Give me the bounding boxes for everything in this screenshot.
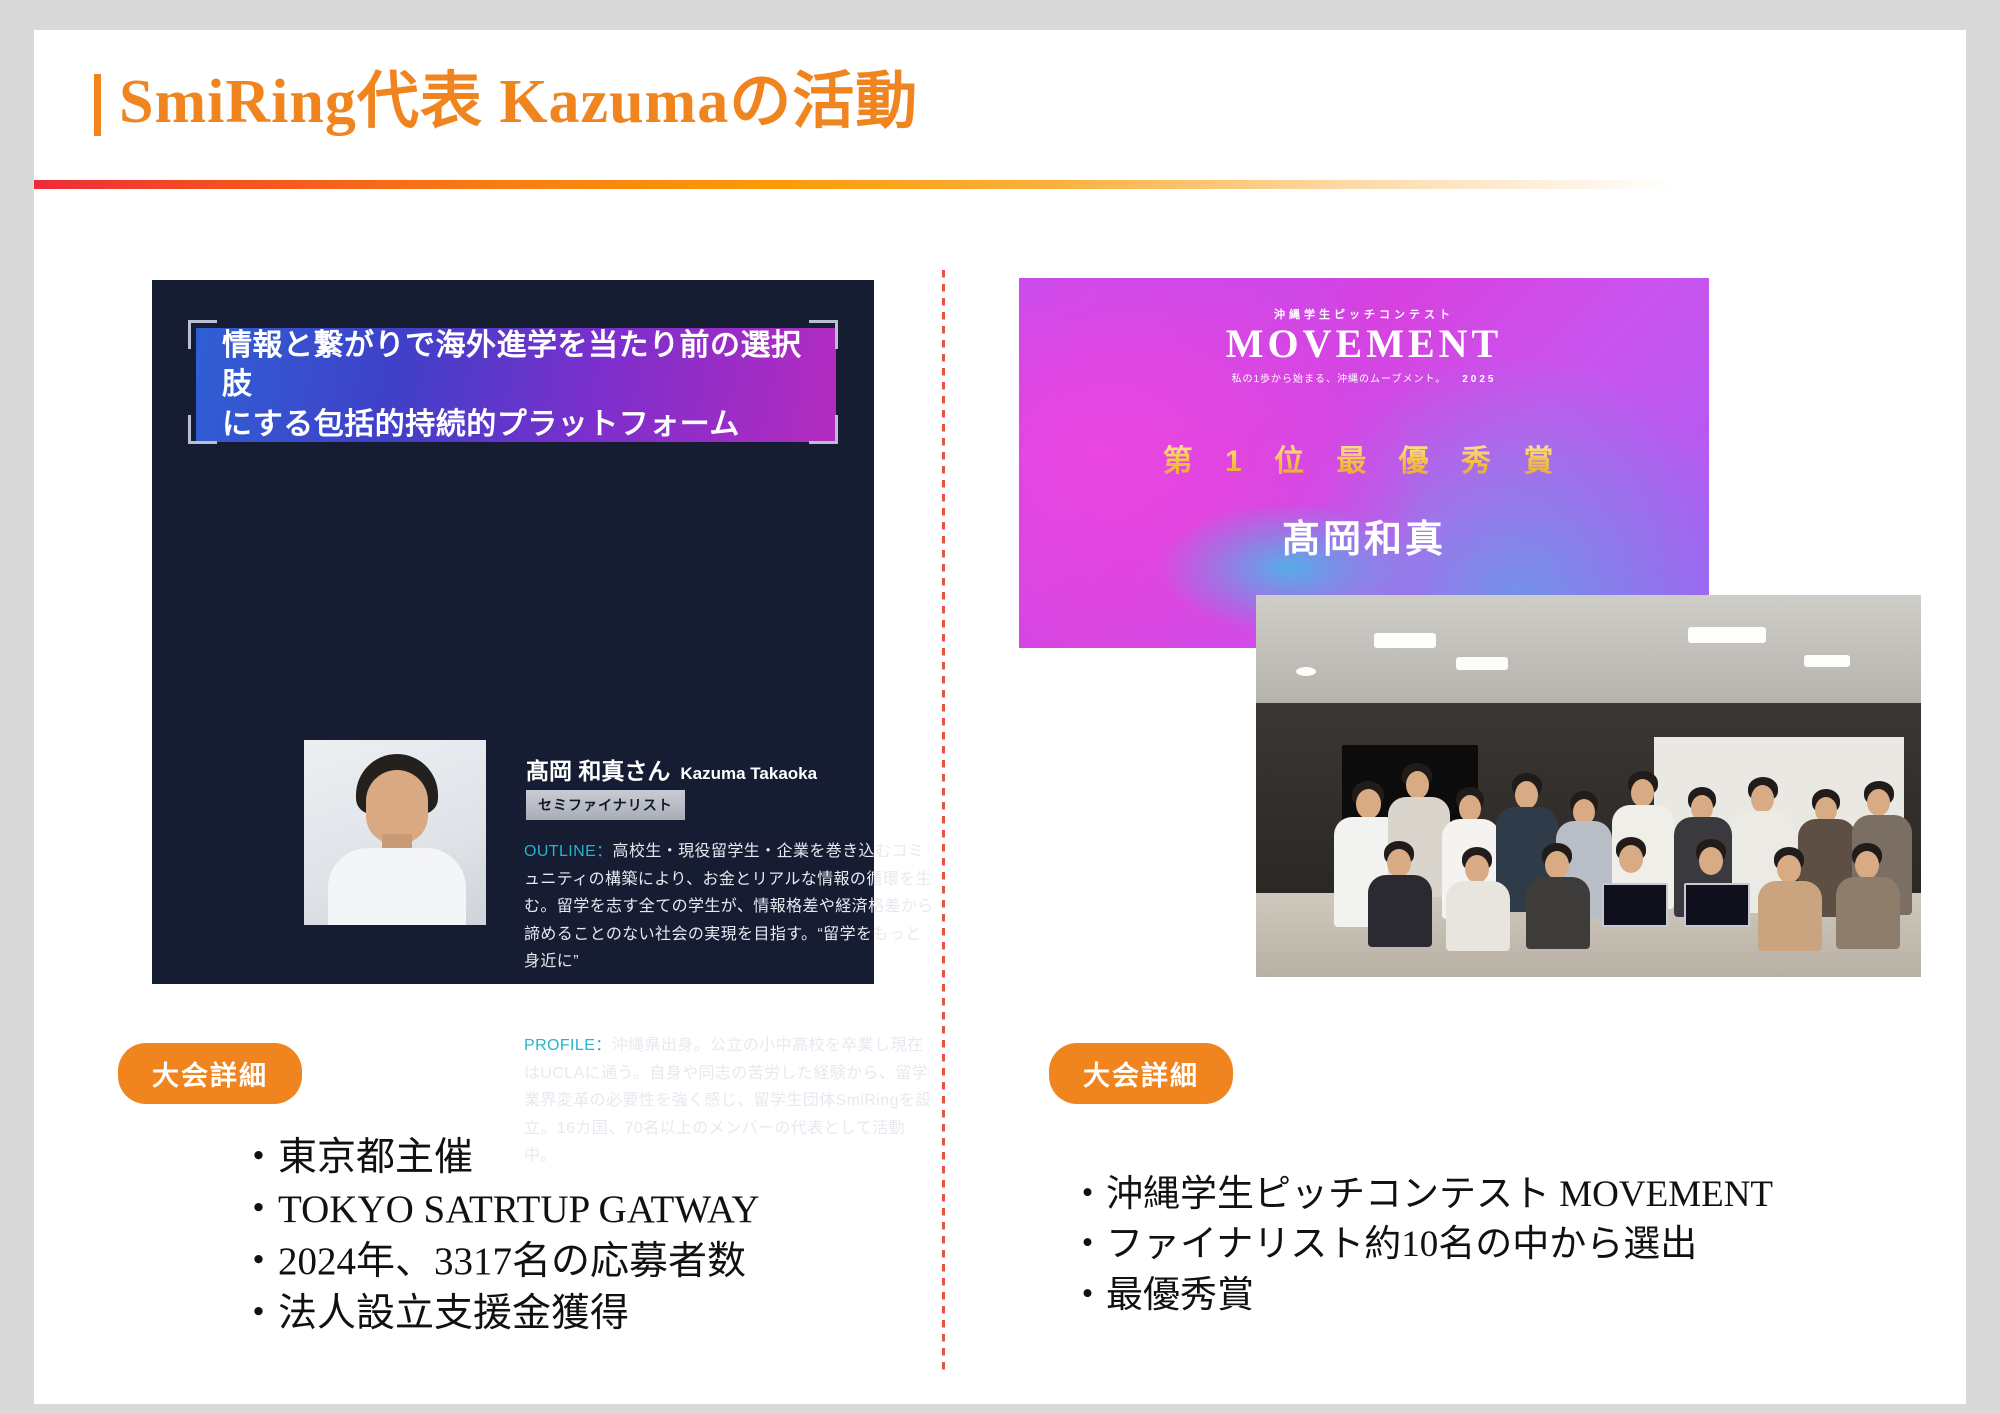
page-title-text: SmiRing代表 Kazumaの活動	[119, 71, 918, 133]
column-divider	[942, 270, 945, 1370]
right-section-pill[interactable]: 大会詳細	[1049, 1043, 1233, 1104]
left-section-pill[interactable]: 大会詳細	[118, 1043, 302, 1104]
photo-person-head	[1515, 781, 1538, 809]
photo-person-body	[1836, 877, 1900, 949]
photo-ceiling-light	[1456, 657, 1508, 670]
pitch-banner-line-2: にする包括的持続的プラットフォーム	[222, 405, 810, 445]
photo-person-head	[1387, 849, 1411, 877]
status-badge: セミファイナリスト	[526, 790, 685, 820]
photo-prize-board	[1602, 883, 1668, 927]
portrait-photo	[304, 740, 486, 925]
photo-person-head	[1631, 779, 1654, 807]
photo-person-body	[1368, 875, 1432, 947]
photo-ceiling	[1256, 595, 1921, 703]
slide-canvas: SmiRing代表 Kazumaの活動 情報と繋がりで海外進学を当たり前の選択肢…	[34, 30, 1966, 1404]
award-winner-name: 髙岡和真	[1019, 508, 1709, 563]
pitch-banner-gradient: 情報と繋がりで海外進学を当たり前の選択肢 にする包括的持続的プラットフォーム	[196, 328, 836, 442]
title-bar-icon	[94, 74, 101, 136]
outline-label: OUTLINE：	[524, 843, 613, 860]
list-item: ・ファイナリスト約10名の中から選出	[1069, 1220, 1773, 1270]
profile-label: PROFILE：	[524, 1037, 612, 1054]
award-logo-text: MOVEMENT	[1019, 320, 1709, 367]
award-tagline-row: 私の1歩から始まる、沖縄のムーブメント。2025	[1019, 370, 1709, 385]
group-photo	[1256, 595, 1921, 977]
corner-bracket-bottom-left-icon	[188, 415, 217, 444]
list-item: ・法人設立支援金獲得	[239, 1288, 760, 1340]
list-item: ・沖縄学生ピッチコンテスト MOVEMENT	[1069, 1170, 1773, 1220]
pitch-banner-line-1: 情報と繋がりで海外進学を当たり前の選択肢	[222, 326, 810, 405]
outline-text: 高校生・現役留学生・企業を巻き込むコミュニティの構築により、お金とリアルな情報の…	[524, 843, 934, 970]
person-name-en: Kazuma Takaoka	[680, 764, 817, 784]
photo-person-head	[1751, 785, 1774, 813]
outline-block: OUTLINE：高校生・現役留学生・企業を巻き込むコミュニティの構築により、お金…	[524, 838, 934, 976]
photo-downlight	[1296, 667, 1316, 676]
award-prize-text: 第 1 位 最 優 秀 賞	[1019, 436, 1709, 480]
photo-prize-board	[1684, 883, 1750, 927]
photo-ceiling-light	[1804, 655, 1850, 667]
right-bullet-list: ・沖縄学生ピッチコンテスト MOVEMENT ・ファイナリスト約10名の中から選…	[1069, 1170, 1773, 1321]
person-name-jp: 髙岡 和真さん	[526, 752, 670, 786]
photo-person-head	[1459, 795, 1481, 822]
title-gradient-rule	[34, 180, 1674, 189]
award-year: 2025	[1462, 374, 1496, 385]
photo-person-body	[1758, 881, 1822, 951]
photo-person-head	[1777, 855, 1801, 883]
left-bullet-list: ・東京都主催 ・TOKYO SATRTUP GATWAY ・2024年、3317…	[239, 1132, 760, 1339]
photo-person-head	[1465, 855, 1489, 883]
photo-person-head	[1545, 851, 1569, 879]
list-item: ・最優秀賞	[1069, 1271, 1773, 1321]
corner-bracket-top-right-icon	[809, 320, 838, 349]
corner-bracket-top-left-icon	[188, 320, 217, 349]
award-tagline: 私の1歩から始まる、沖縄のムーブメント。	[1231, 374, 1446, 385]
photo-person-head	[1356, 789, 1381, 819]
page-title: SmiRing代表 Kazumaの活動	[94, 68, 918, 136]
photo-person-head	[1619, 845, 1643, 873]
person-name: 髙岡 和真さん Kazuma Takaoka	[526, 752, 817, 786]
photo-person-head	[1699, 847, 1723, 875]
portrait-shirt	[328, 848, 466, 925]
list-item: ・TOKYO SATRTUP GATWAY	[239, 1184, 760, 1236]
list-item: ・2024年、3317名の応募者数	[239, 1236, 760, 1288]
photo-person-head	[1855, 851, 1879, 879]
list-item: ・東京都主催	[239, 1132, 760, 1184]
photo-person-body	[1526, 877, 1590, 949]
corner-bracket-bottom-right-icon	[809, 415, 838, 444]
profile-card: 情報と繋がりで海外進学を当たり前の選択肢 にする包括的持続的プラットフォーム 髙…	[152, 280, 874, 984]
photo-person-head	[1406, 771, 1429, 799]
photo-person-body	[1446, 881, 1510, 951]
award-image: 沖縄学生ピッチコンテスト MOVEMENT 私の1歩から始まる、沖縄のムーブメン…	[1019, 278, 1709, 648]
portrait-face	[366, 770, 428, 844]
photo-ceiling-light	[1688, 627, 1766, 643]
photo-person-head	[1867, 789, 1890, 816]
pitch-banner: 情報と繋がりで海外進学を当たり前の選択肢 にする包括的持続的プラットフォーム	[188, 320, 836, 442]
photo-ceiling-light	[1374, 633, 1436, 648]
